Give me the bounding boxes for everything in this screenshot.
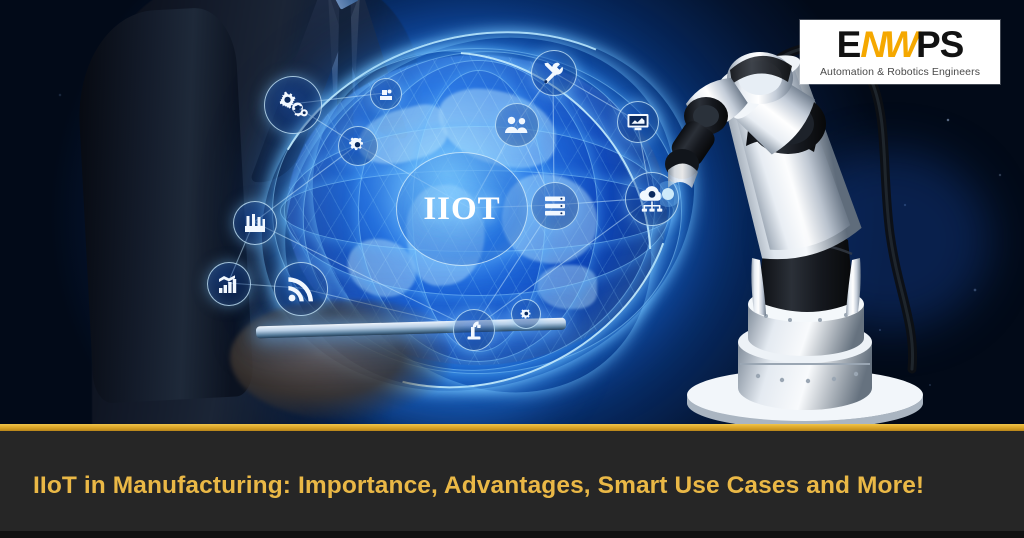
tools-icon [531,50,577,96]
logo-wordmark: ENWPS [837,26,964,63]
iiot-center-badge: IIOT [396,152,528,266]
industrial-robot-arm [660,24,950,424]
suit-sleeve [74,6,254,404]
server-stack-icon [531,182,579,230]
monitor-icon [617,101,659,143]
wifi-icon [274,262,328,316]
logo-tagline: Automation & Robotics Engineers [820,66,980,78]
robot-arm-icon [453,309,495,351]
gears-icon [264,76,322,134]
hero-image: IIOT [0,0,1024,424]
company-logo[interactable]: ENWPS Automation & Robotics Engineers [800,20,1000,84]
gold-divider-bar [0,424,1024,431]
logo-text-left: E [837,24,861,65]
logo-text-accent: NW [860,24,916,65]
people-icon [495,103,539,147]
bottom-strip [0,531,1024,538]
machine-icon [370,78,402,110]
article-hero-banner: IIOT [0,0,1024,538]
article-title: IIoT in Manufacturing: Importance, Advan… [33,472,924,500]
settings-gear-icon [511,299,541,329]
gear-icon [338,126,378,166]
bar-chart-icon [207,262,251,306]
iiot-label: IIOT [423,191,500,228]
factory-icon [233,201,277,245]
logo-text-right: PS [916,24,963,65]
